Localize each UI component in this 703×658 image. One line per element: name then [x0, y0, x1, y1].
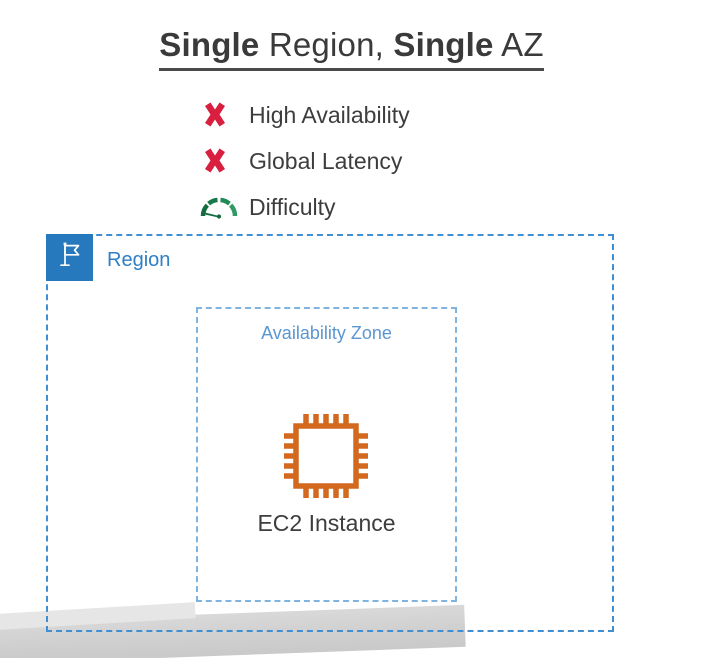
page-title-segment-2: Region, — [259, 26, 393, 63]
page-title-segment-4: AZ — [494, 26, 544, 63]
page-title-segment-3: Single — [393, 26, 493, 63]
attribute-row-high-availability: High Availability — [199, 92, 410, 138]
attribute-row-difficulty: Difficulty — [199, 184, 410, 230]
attribute-label-global-latency: Global Latency — [249, 148, 402, 175]
attribute-label-difficulty: Difficulty — [249, 194, 336, 221]
flag-icon — [55, 240, 85, 275]
slide-canvas: Single Region, Single AZ High Availabili… — [0, 0, 703, 658]
region-label: Region — [107, 249, 170, 272]
red-x-icon — [199, 144, 241, 178]
page-title: Single Region, Single AZ — [0, 26, 703, 71]
green-gauge-icon — [199, 190, 241, 224]
region-badge — [46, 234, 93, 281]
ec2-chip-icon — [280, 410, 372, 502]
red-x-icon — [199, 98, 241, 132]
attribute-row-global-latency: Global Latency — [199, 138, 410, 184]
ec2-instance-label: EC2 Instance — [196, 510, 457, 537]
page-title-segment-1: Single — [159, 26, 259, 63]
attribute-list: High Availability Global Latency — [199, 92, 410, 230]
page-title-text: Single Region, Single AZ — [159, 26, 543, 71]
attribute-label-high-availability: High Availability — [249, 102, 410, 129]
availability-zone-label: Availability Zone — [196, 323, 457, 344]
